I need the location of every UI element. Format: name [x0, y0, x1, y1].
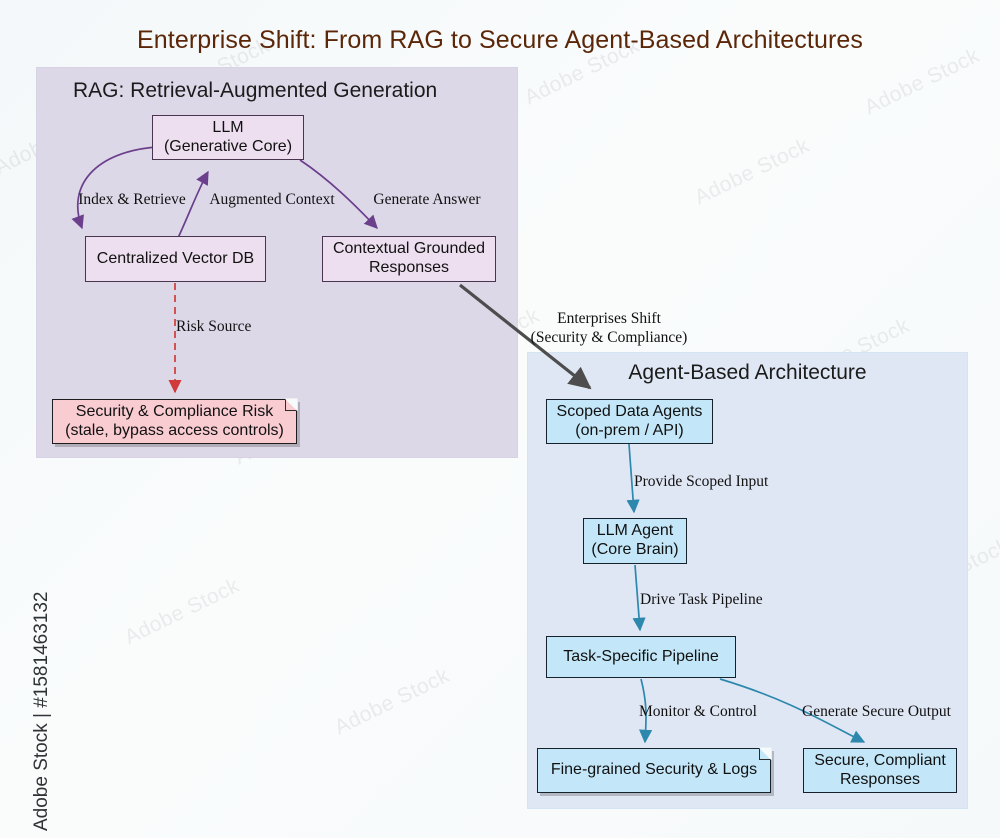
edge-label-generate-secure-output: Generate Secure Output — [802, 703, 960, 720]
watermark-tile: Adobe Stock — [121, 574, 244, 650]
node-security-compliance-risk[interactable]: Security & Compliance Risk (stale, bypas… — [52, 399, 297, 444]
watermark-tile: Adobe Stock — [691, 134, 814, 210]
stock-credit-watermark: Adobe Stock | #1581463132 — [31, 591, 53, 831]
edge-label-drive-task-pipeline: Drive Task Pipeline — [640, 591, 776, 608]
node-vector-db[interactable]: Centralized Vector DB — [85, 236, 266, 282]
node-scoped-data-agents[interactable]: Scoped Data Agents (on-prem / API) — [546, 399, 713, 444]
edge-label-provide-scoped-input: Provide Scoped Input — [634, 473, 778, 490]
edge-label-generate-answer: Generate Answer — [366, 191, 488, 208]
node-secure-responses[interactable]: Secure, Compliant Responses — [803, 748, 957, 793]
note-fold-icon — [285, 398, 298, 411]
node-security-logs-label: Fine-grained Security & Logs — [551, 761, 757, 780]
edge-label-index-retrieve: Index & Retrieve — [68, 191, 196, 208]
watermark-tile: Adobe Stock — [861, 44, 984, 120]
edge-label-risk-source: Risk Source — [176, 318, 294, 335]
edge-label-enterprises-shift: Enterprises Shift (Security & Compliance… — [517, 309, 701, 348]
diagram-canvas: Adobe Stock Adobe Stock Adobe Stock Adob… — [0, 0, 1000, 838]
panel-agent-title: Agent-Based Architecture — [528, 361, 967, 385]
node-llm-agent[interactable]: LLM Agent (Core Brain) — [583, 518, 687, 564]
watermark-tile: Adobe Stock — [331, 664, 454, 740]
node-llm[interactable]: LLM (Generative Core) — [152, 115, 304, 160]
page-title: Enterprise Shift: From RAG to Secure Age… — [0, 26, 1000, 55]
node-security-logs[interactable]: Fine-grained Security & Logs — [537, 748, 771, 793]
node-task-pipeline[interactable]: Task-Specific Pipeline — [546, 636, 736, 678]
edge-label-augmented-context: Augmented Context — [206, 191, 338, 208]
node-grounded-responses[interactable]: Contextual Grounded Responses — [322, 236, 496, 282]
edge-label-monitor-control: Monitor & Control — [639, 703, 767, 720]
note-fold-icon — [759, 747, 772, 760]
node-security-compliance-risk-label: Security & Compliance Risk (stale, bypas… — [65, 403, 284, 441]
panel-rag-title: RAG: Retrieval-Augmented Generation — [37, 79, 553, 103]
